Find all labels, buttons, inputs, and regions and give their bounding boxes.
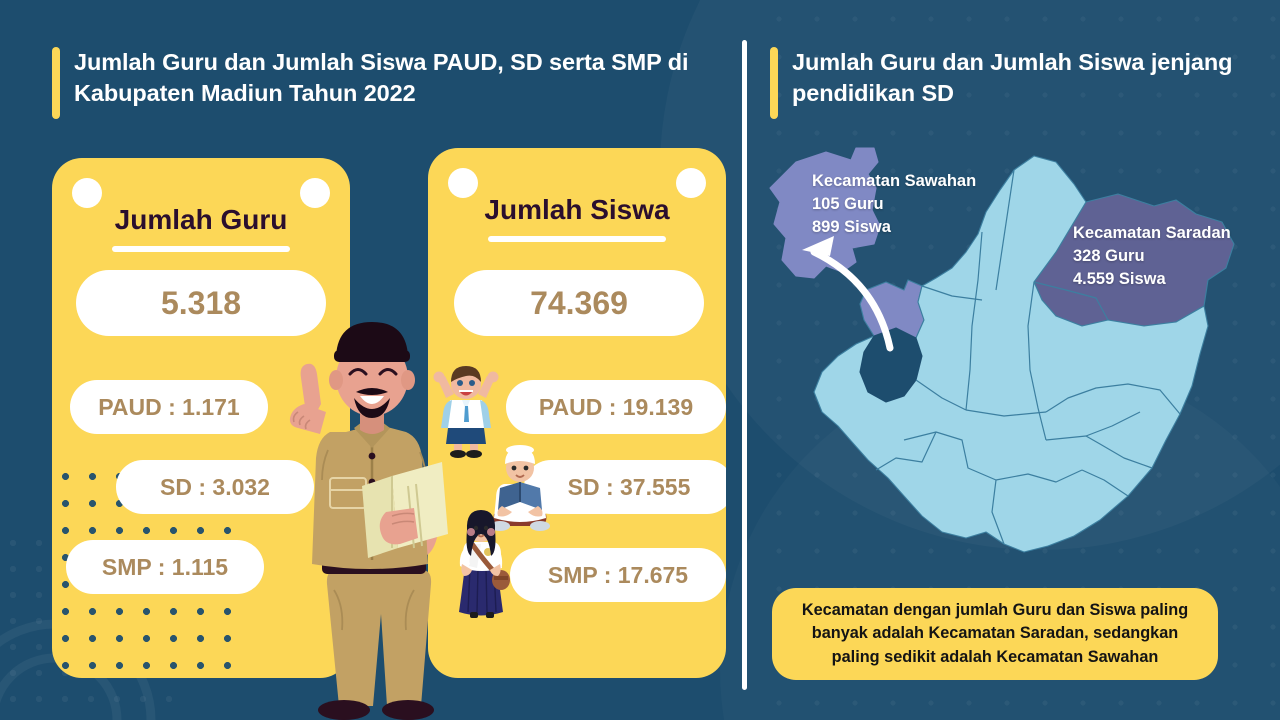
infographic-canvas: Jumlah Guru dan Jumlah Siswa PAUD, SD se… [0, 0, 1280, 720]
summary-note-text: Kecamatan dengan jumlah Guru dan Siswa p… [786, 599, 1204, 668]
card-siswa-sd-value: SD : 37.555 [524, 460, 726, 514]
map-label-sawahan: Kecamatan Sawahan 105 Guru 899 Siswa [812, 170, 976, 238]
map-label-saradan-name: Kecamatan Saradan [1073, 222, 1231, 245]
left-panel-title-text: Jumlah Guru dan Jumlah Siswa PAUD, SD se… [74, 47, 712, 110]
left-panel-title: Jumlah Guru dan Jumlah Siswa PAUD, SD se… [52, 47, 712, 119]
card-siswa-paud-value: PAUD : 19.139 [506, 380, 726, 434]
card-guru-sd-value: SD : 3.032 [116, 460, 314, 514]
card-siswa-total-value: 74.369 [454, 270, 704, 336]
map-label-sawahan-siswa: 899 Siswa [812, 216, 976, 239]
card-siswa-heading: Jumlah Siswa [428, 194, 726, 226]
panel-divider [742, 40, 747, 690]
card-heading-underline [488, 236, 666, 242]
map-label-sawahan-name: Kecamatan Sawahan [812, 170, 976, 193]
map-label-saradan: Kecamatan Saradan 328 Guru 4.559 Siswa [1073, 222, 1231, 290]
title-accent-bar [52, 47, 60, 119]
title-accent-bar [770, 47, 778, 119]
stat-card-siswa: Jumlah Siswa 74.369 PAUD : 19.139 SD : 3… [428, 148, 726, 678]
right-panel-title-text: Jumlah Guru dan Jumlah Siswa jenjang pen… [792, 47, 1240, 110]
stat-card-guru: Jumlah Guru 5.318 PAUD : 1.171 SD : 3.03… [52, 158, 350, 678]
card-guru-smp-value: SMP : 1.115 [66, 540, 264, 594]
map-label-saradan-siswa: 4.559 Siswa [1073, 268, 1231, 291]
map-label-sawahan-guru: 105 Guru [812, 193, 976, 216]
card-heading-underline [112, 246, 290, 252]
card-guru-total-value: 5.318 [76, 270, 326, 336]
map-label-saradan-guru: 328 Guru [1073, 245, 1231, 268]
card-siswa-smp-value: SMP : 17.675 [510, 548, 726, 602]
card-guru-heading: Jumlah Guru [52, 204, 350, 236]
summary-note-box: Kecamatan dengan jumlah Guru dan Siswa p… [772, 588, 1218, 680]
card-guru-paud-value: PAUD : 1.171 [70, 380, 268, 434]
right-panel-title: Jumlah Guru dan Jumlah Siswa jenjang pen… [770, 47, 1240, 119]
